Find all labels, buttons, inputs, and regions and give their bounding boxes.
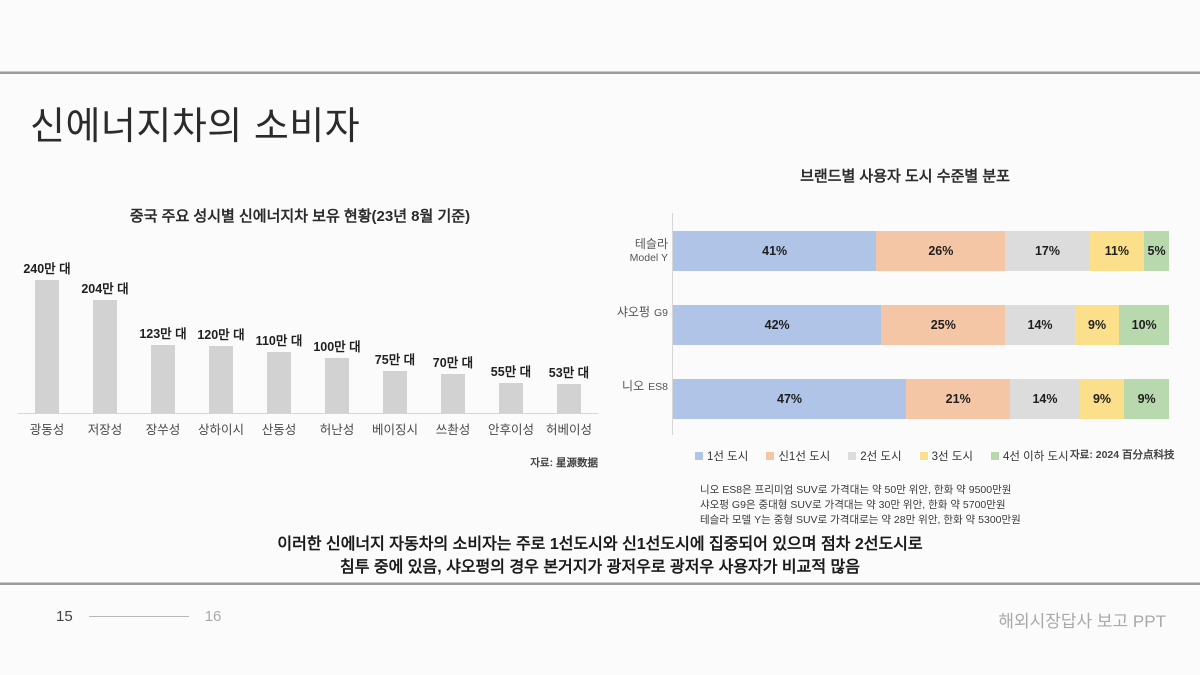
conclusion-line: 이러한 신에너지 자동차의 소비자는 주로 1선도시와 신1선도시에 집중되어 … <box>0 533 1200 556</box>
stacked-bar-row: 테슬라Model Y41%26%17%11%5% <box>600 231 1200 271</box>
stacked-bar-segment: 9% <box>1124 379 1169 419</box>
stacked-bar-segment: 17% <box>1005 231 1089 271</box>
bar-rect <box>151 345 175 413</box>
legend-item: 4선 이하 도시 <box>991 448 1069 464</box>
stacked-bar-segment: 14% <box>1005 305 1074 345</box>
left-chart-plot-area: 240만 대204만 대123만 대120만 대110만 대100만 대75만 … <box>18 280 598 413</box>
bar-category-label: 안후이성 <box>482 419 540 438</box>
right-chart-source: 자료: 2024 百分点科技 <box>1070 447 1175 462</box>
left-chart-source: 자료: 星源数据 <box>0 455 598 470</box>
bar-category-label: 허베이성 <box>540 419 598 438</box>
stacked-bar: 47%21%14%9%9% <box>673 379 1169 419</box>
bar-category-label: 베이징시 <box>366 419 424 438</box>
stacked-bar-brand-label: 니오ES8 <box>548 379 668 419</box>
bar-rect <box>325 358 349 413</box>
header-divider <box>0 71 1200 74</box>
page-number-next: 16 <box>205 608 222 625</box>
stacked-bar-segment: 9% <box>1080 379 1125 419</box>
bar-category-label: 장쑤성 <box>134 419 192 438</box>
bar-rect <box>383 371 407 413</box>
stacked-bar-brand-label: 샤오펑G9 <box>548 305 668 345</box>
left-column-chart: 중국 주요 성시별 신에너지차 보유 현황(23년 8월 기준) 240만 대2… <box>0 205 620 480</box>
stacked-bar-segment: 47% <box>673 379 906 419</box>
stacked-bar-segment: 11% <box>1090 231 1145 271</box>
footer-divider <box>0 582 1200 585</box>
stacked-bar-row: 니오ES847%21%14%9%9% <box>600 379 1200 419</box>
legend-item: 신1선 도시 <box>766 448 830 464</box>
stacked-bar-segment: 9% <box>1075 305 1120 345</box>
legend-label: 1선 도시 <box>707 448 748 464</box>
legend-item: 2선 도시 <box>848 448 901 464</box>
bar-rect <box>267 352 291 413</box>
footnotes-block: 니오 ES8은 프리미엄 SUV로 가격대는 약 50만 위안, 한화 약 95… <box>700 483 1120 529</box>
bar-value-label: 120만 대 <box>197 324 244 343</box>
pagination-divider-line <box>89 616 189 617</box>
conclusion-block: 이러한 신에너지 자동차의 소비자는 주로 1선도시와 신1선도시에 집중되어 … <box>0 533 1200 579</box>
footer-pagination: 15 16 <box>56 608 221 625</box>
footnote-line: 샤오펑 G9은 중대형 SUV로 가격대는 약 30만 위안, 한화 약 570… <box>700 498 1120 513</box>
legend-swatch-icon <box>695 452 703 460</box>
brand-name: 샤오펑 <box>617 305 650 320</box>
legend-item: 1선 도시 <box>695 448 748 464</box>
bar-column: 204만 대 <box>76 300 134 413</box>
bar-value-label: 75만 대 <box>375 349 415 368</box>
stacked-bar-segment: 14% <box>1010 379 1079 419</box>
bar-category-label: 저장성 <box>76 419 134 438</box>
stacked-bar-brand-label: 테슬라Model Y <box>548 231 668 271</box>
legend-swatch-icon <box>920 452 928 460</box>
bar-value-label: 55만 대 <box>491 361 531 380</box>
stacked-bar-segment: 42% <box>673 305 881 345</box>
bar-category-label: 광동성 <box>18 419 76 438</box>
bar-column: 110만 대 <box>250 352 308 413</box>
bar-category-label: 쓰촨성 <box>424 419 482 438</box>
footnote-line: 니오 ES8은 프리미엄 SUV로 가격대는 약 50만 위안, 한화 약 95… <box>700 483 1120 498</box>
brand-name: 니오 <box>622 379 644 394</box>
bar-value-label: 100만 대 <box>313 336 360 355</box>
brand-model: Model Y <box>630 252 668 265</box>
right-stacked-chart: 브랜드별 사용자 도시 수준별 분포 테슬라Model Y41%26%17%11… <box>600 165 1200 475</box>
right-chart-legend: 1선 도시신1선 도시2선 도시3선 도시4선 이하 도시 <box>695 448 1069 464</box>
legend-swatch-icon <box>848 452 856 460</box>
bar-rect <box>35 280 59 413</box>
bar-column: 70만 대 <box>424 374 482 413</box>
bar-category-label: 허난성 <box>308 419 366 438</box>
legend-label: 2선 도시 <box>860 448 901 464</box>
stacked-bar-row: 샤오펑G942%25%14%9%10% <box>600 305 1200 345</box>
stacked-bar-segment: 5% <box>1144 231 1169 271</box>
bar-rect <box>499 383 523 413</box>
bar-column: 123만 대 <box>134 345 192 413</box>
legend-label: 3선 도시 <box>932 448 973 464</box>
legend-swatch-icon <box>991 452 999 460</box>
footnote-line: 테슬라 모델 Y는 중형 SUV로 가격대로는 약 28만 위안, 한화 약 5… <box>700 513 1120 528</box>
bar-value-label: 204만 대 <box>81 278 128 297</box>
bar-rect <box>209 346 233 413</box>
bar-column: 55만 대 <box>482 383 540 413</box>
bar-column: 75만 대 <box>366 371 424 413</box>
stacked-bar: 41%26%17%11%5% <box>673 231 1169 271</box>
bar-column: 100만 대 <box>308 358 366 413</box>
stacked-bar-segment: 25% <box>881 305 1005 345</box>
brand-model: ES8 <box>648 381 668 394</box>
footer-brand-label: 해외시장답사 보고 PPT <box>998 607 1166 632</box>
page-number-current: 15 <box>56 608 73 625</box>
left-chart-axis-line <box>18 413 598 414</box>
legend-item: 3선 도시 <box>920 448 973 464</box>
bar-value-label: 240만 대 <box>23 258 70 277</box>
legend-label: 4선 이하 도시 <box>1003 448 1069 464</box>
bar-column: 120만 대 <box>192 346 250 413</box>
bar-category-label: 산동성 <box>250 419 308 438</box>
stacked-bar-segment: 26% <box>876 231 1005 271</box>
stacked-bar-segment: 10% <box>1119 305 1169 345</box>
bar-column: 240만 대 <box>18 280 76 413</box>
right-chart-plot-area: 테슬라Model Y41%26%17%11%5%샤오펑G942%25%14%9%… <box>600 213 1200 435</box>
stacked-bar-segment: 21% <box>906 379 1010 419</box>
bar-category-label: 상하이시 <box>192 419 250 438</box>
brand-name: 테슬라 <box>635 237 668 252</box>
bar-value-label: 123만 대 <box>139 323 186 342</box>
bar-value-label: 110만 대 <box>256 330 303 349</box>
stacked-bar: 42%25%14%9%10% <box>673 305 1169 345</box>
bar-value-label: 70만 대 <box>433 352 473 371</box>
left-chart-title: 중국 주요 성시별 신에너지차 보유 현황(23년 8월 기준) <box>0 205 600 226</box>
legend-swatch-icon <box>766 452 774 460</box>
left-chart-category-labels: 광동성저장성장쑤성상하이시산동성허난성베이징시쓰촨성안후이성허베이성 <box>18 419 598 443</box>
right-chart-title: 브랜드별 사용자 도시 수준별 분포 <box>655 165 1155 186</box>
page-title: 신에너지차의 소비자 <box>30 95 360 150</box>
bar-rect <box>93 300 117 413</box>
legend-label: 신1선 도시 <box>778 448 830 464</box>
bar-rect <box>441 374 465 413</box>
brand-model: G9 <box>654 307 668 320</box>
conclusion-line: 침투 중에 있음, 샤오펑의 경우 본거지가 광저우로 광저우 사용자가 비교적… <box>0 556 1200 579</box>
stacked-bar-segment: 41% <box>673 231 876 271</box>
slide-canvas: 신에너지차의 소비자 중국 주요 성시별 신에너지차 보유 현황(23년 8월 … <box>0 0 1200 675</box>
